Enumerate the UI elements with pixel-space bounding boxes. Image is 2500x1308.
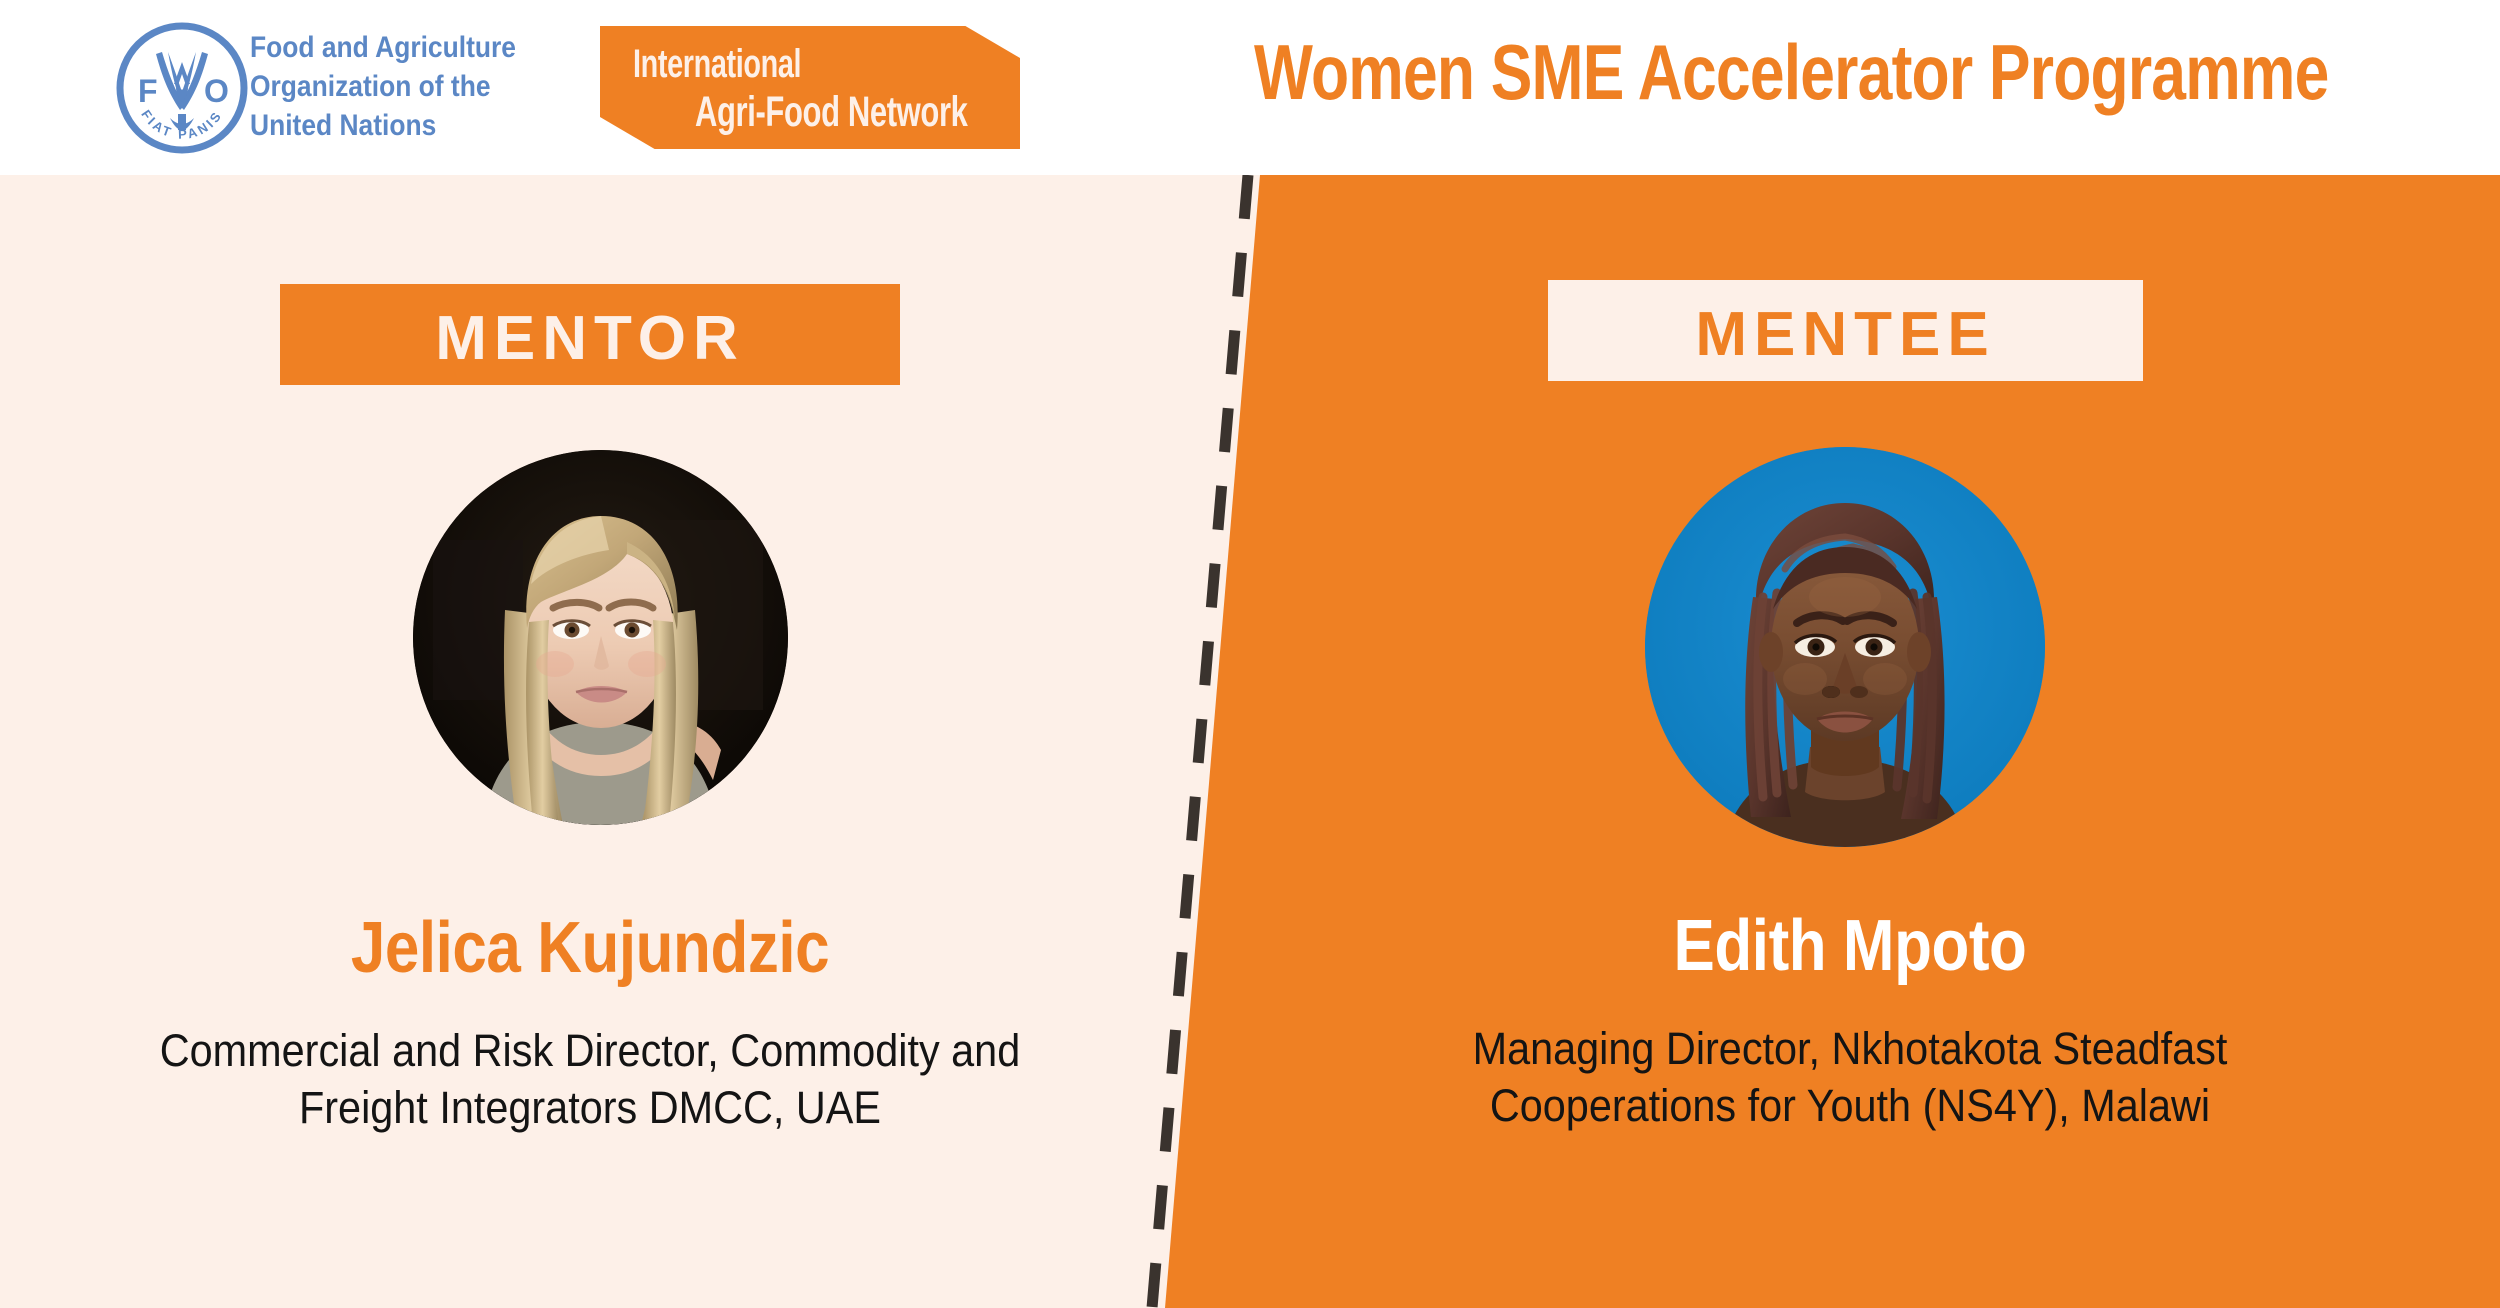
fao-line-1: Food and Agriculture: [250, 28, 540, 67]
mentee-role: Managing Director, Nkhotakota Steadfast …: [1362, 1020, 2337, 1134]
poster-canvas: MENTOR: [0, 0, 2500, 1308]
svg-text:O: O: [204, 73, 229, 109]
mentee-avatar: [1645, 447, 2045, 847]
iafn-logo: International Agri-Food Network: [600, 26, 1020, 149]
page-title: Women SME Accelerator Programme: [1254, 28, 2326, 116]
mentor-role: Commercial and Risk Director, Commodity …: [102, 1022, 1077, 1136]
svg-text:F: F: [138, 73, 158, 109]
mentee-badge: MENTEE: [1548, 280, 2143, 381]
iafn-line-1: International: [633, 42, 801, 87]
portrait-mentee-illustration: [1645, 447, 2045, 847]
portrait-mentor-illustration: [413, 450, 788, 825]
fao-wordmark: Food and Agriculture Organization of the…: [250, 28, 540, 145]
mentor-avatar: [413, 450, 788, 825]
fao-logo-svg: F O FIAT PANIS: [112, 18, 252, 158]
header-bar: F O FIAT PANIS Food and Agriculture Orga…: [0, 0, 2500, 175]
fao-line-2: Organization of the: [250, 67, 540, 106]
fao-emblem-icon: F O FIAT PANIS: [112, 18, 252, 158]
iafn-line-2: Agri-Food Network: [695, 88, 968, 137]
mentee-name: Edith Mpoto: [1497, 910, 2202, 982]
fao-line-3: United Nations: [250, 106, 540, 145]
mentor-badge: MENTOR: [280, 284, 900, 385]
mentor-name: Jelica Kujundzic: [237, 912, 942, 984]
